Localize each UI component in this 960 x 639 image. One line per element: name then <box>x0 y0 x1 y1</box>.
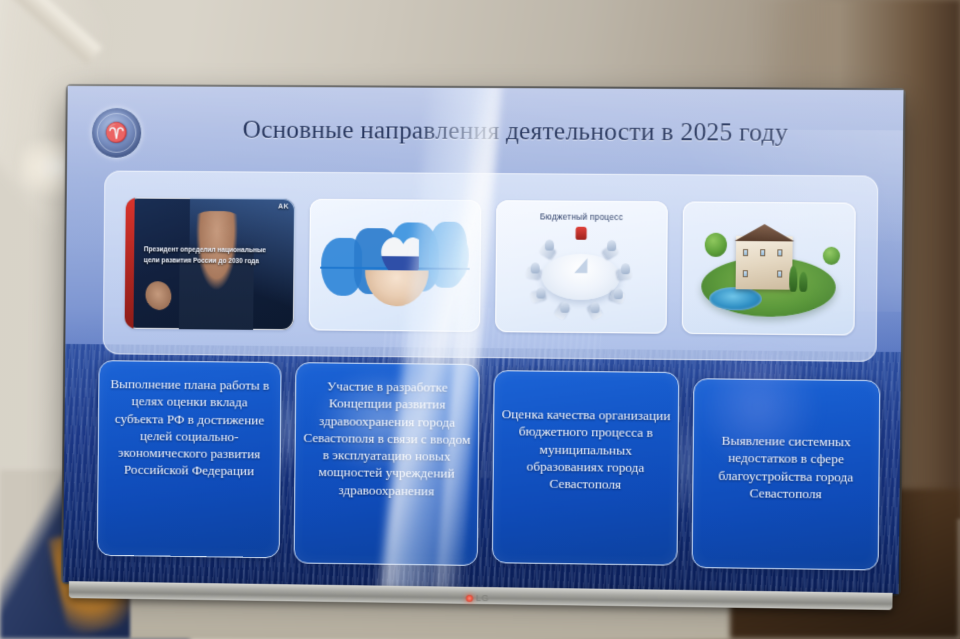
emblem-glyph: ♈ <box>105 123 129 142</box>
meeting-participant <box>591 302 600 313</box>
direction-box-work-plan[interactable]: Выполнение плана работы в целях оценки в… <box>97 360 282 558</box>
house-window <box>777 271 782 278</box>
map-region-kamchatka <box>453 239 469 279</box>
house-window <box>760 249 765 256</box>
news-speaker-hand <box>141 278 174 313</box>
image-cards-panel: AK Президент определил национальные цели… <box>103 171 879 362</box>
tree-large-left <box>705 233 727 257</box>
direction-box-healthcare-concept[interactable]: Участие в разработке Концепции развития … <box>294 362 480 565</box>
news-channel-logo: AK <box>278 203 289 210</box>
meeting-participant <box>613 288 622 299</box>
direction-boxes-row: Выполнение плана работы в целях оценки в… <box>97 360 881 579</box>
organization-emblem-icon: ♈ <box>91 107 143 159</box>
meeting-participant <box>607 240 616 251</box>
card-landscaping-house <box>681 201 855 335</box>
card-healthcare-map <box>309 198 481 331</box>
meeting-participant <box>536 287 545 298</box>
television: ♈ Основные направления деятельности в 20… <box>63 86 903 594</box>
presentation-slide: ♈ Основные направления деятельности в 20… <box>63 86 903 594</box>
tree-right <box>822 247 839 265</box>
cupping-hands-icon <box>364 270 428 306</box>
direction-box-text: Выявление системных недостатков в сфере … <box>700 387 872 503</box>
image-cards-row: AK Президент определил национальные цели… <box>103 171 879 362</box>
tv-brand-text: LG <box>476 593 489 603</box>
direction-box-text: Оценка качества организации бюджетного п… <box>501 379 672 494</box>
meeting-participant <box>545 240 554 251</box>
budget-process-label: Бюджетный процесс <box>496 211 668 222</box>
news-caption-line-2: цели развития России до 2030 года <box>144 256 280 268</box>
card-president-news: AK Президент определил национальные цели… <box>125 197 296 330</box>
house-body <box>735 236 793 290</box>
direction-box-text: Выполнение плана работы в целях оценки в… <box>105 369 273 480</box>
meeting-participant <box>560 302 569 313</box>
meeting-participant <box>620 263 629 274</box>
house-roof <box>729 224 800 242</box>
house-window <box>777 249 782 256</box>
chairman-seat-icon <box>576 227 587 240</box>
news-speaker-figure <box>179 210 255 329</box>
direction-box-landscaping-gaps[interactable]: Выявление системных недостатков в сфере … <box>692 378 881 570</box>
tricolor-heart-group <box>374 233 419 302</box>
meeting-chart-icon <box>574 258 587 273</box>
cypress-tree <box>789 265 797 291</box>
news-caption: Президент определил национальные цели ра… <box>144 246 280 269</box>
slide-title: Основные направления деятельности в 2025… <box>186 114 847 148</box>
card-budget-process: Бюджетный процесс <box>495 200 668 334</box>
tv-brand-logo: LG <box>466 593 489 603</box>
house-window <box>743 249 748 256</box>
news-red-bar <box>125 197 135 328</box>
cypress-tree <box>799 272 807 292</box>
direction-box-budget-quality[interactable]: Оценка качества организации бюджетного п… <box>492 370 680 566</box>
garden-pond <box>709 287 761 310</box>
direction-box-text: Участие в разработке Концепции развития … <box>302 371 472 500</box>
house-window <box>742 270 747 277</box>
tv-bezel: ♈ Основные направления деятельности в 20… <box>63 86 903 594</box>
power-led-indicator <box>466 594 473 601</box>
meeting-participant <box>531 262 540 273</box>
